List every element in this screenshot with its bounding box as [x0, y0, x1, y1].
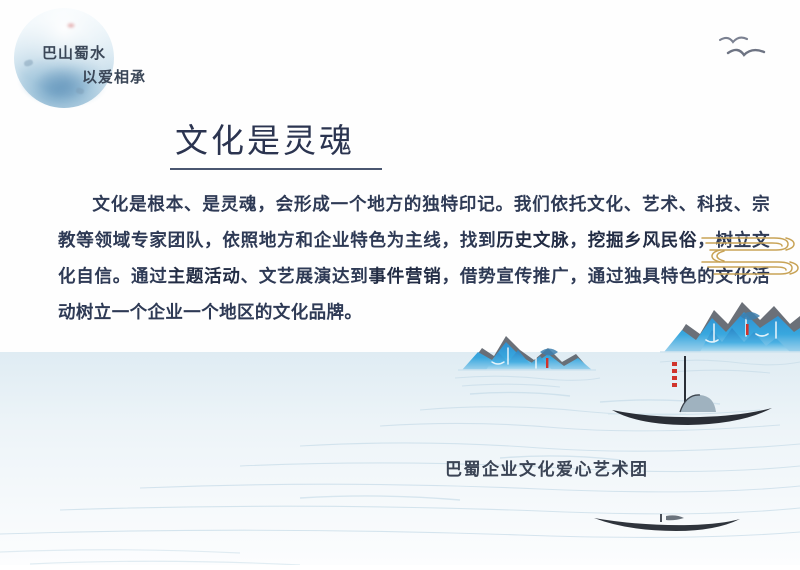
body-text-run: ， — [569, 230, 587, 250]
seagull-pair-icon — [712, 26, 782, 70]
logo-line-1: 巴山蜀水 — [42, 42, 106, 63]
body-paragraph: 文化是根本、是灵魂，会形成一个地方的独特印记。我们依托文化、艺术、科技、宗教等领… — [58, 186, 770, 330]
body-emphasis-run: 历史文脉 — [496, 230, 569, 250]
red-seal-dot-icon — [66, 22, 76, 29]
body-emphasis-run: 事件营销 — [369, 266, 442, 286]
signature-line: 巴蜀企业文化爱心艺术团 — [445, 455, 649, 480]
body-emphasis-run: 主题活动 — [168, 266, 241, 286]
brand-logo: 巴山蜀水 以爱相承 — [6, 4, 122, 112]
title-underline — [170, 168, 382, 170]
boat-distant — [594, 514, 740, 531]
logo-line-2: 以爱相承 — [82, 66, 146, 87]
boat-main — [608, 356, 772, 425]
body-emphasis-run: 挖掘乡风民俗 — [588, 230, 698, 250]
page-title: 文化是灵魂 — [175, 126, 355, 159]
ink-landscape-illustration — [0, 290, 800, 565]
slide-canvas: 巴山蜀水 以爱相承 文化是灵魂 文化是根本、是灵魂，会形成一个地方的独特印记。我… — [0, 0, 800, 565]
body-text-run: 、文艺展演达到 — [241, 266, 369, 286]
